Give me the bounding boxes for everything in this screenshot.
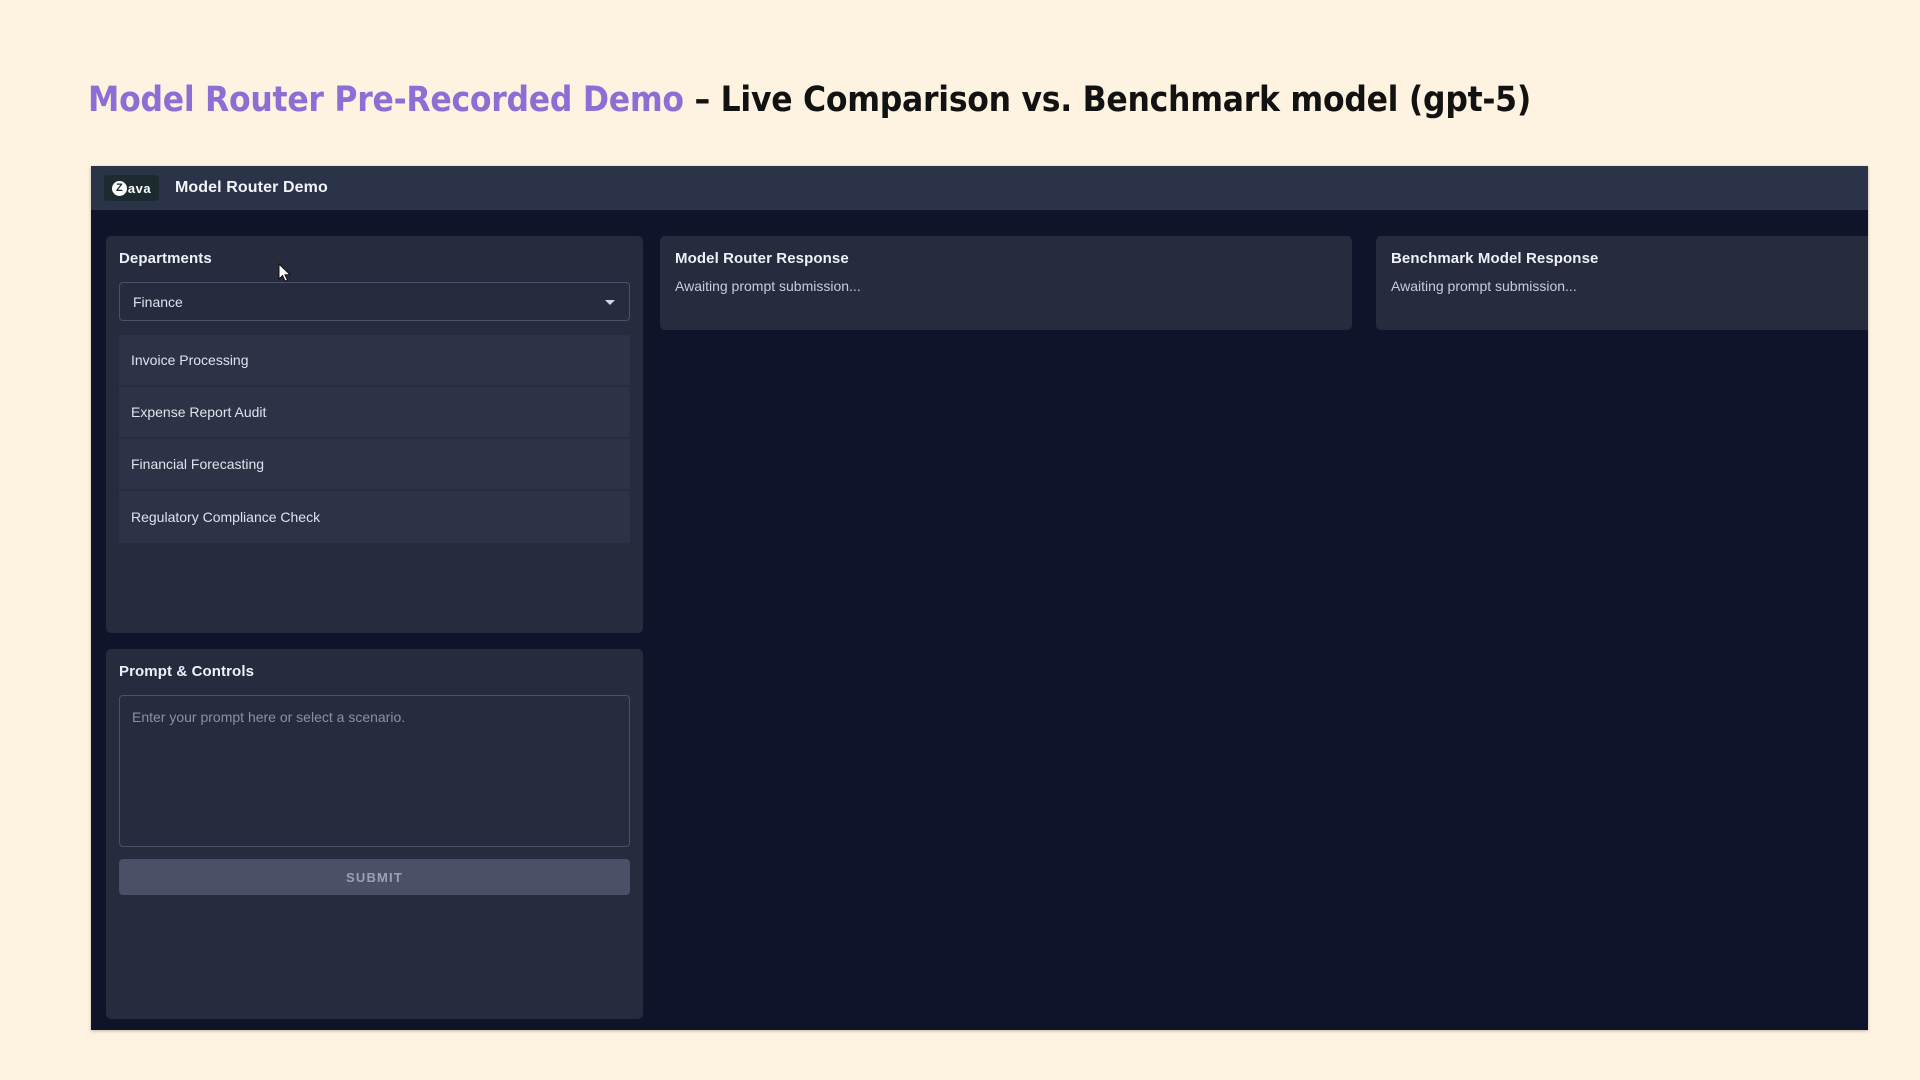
benchmark-model-response-heading: Benchmark Model Response [1391,250,1868,267]
app-title: Model Router Demo [175,179,328,197]
scenario-label: Expense Report Audit [131,404,266,420]
model-router-response-status: Awaiting prompt submission... [675,278,1337,294]
model-router-response-panel: Model Router Response Awaiting prompt su… [660,236,1352,330]
benchmark-model-response-panel: Benchmark Model Response Awaiting prompt… [1376,236,1868,330]
zava-logo-mark: Z ava [112,181,151,196]
prompt-heading: Prompt & Controls [119,663,630,680]
scenario-label: Regulatory Compliance Check [131,509,320,525]
list-item[interactable]: Invoice Processing [119,335,630,387]
scenario-list: Invoice Processing Expense Report Audit … [119,335,630,543]
department-select-value: Finance [133,294,183,310]
app-topbar: Z ava Model Router Demo [91,166,1868,210]
page-title-accent: Model Router Pre-Recorded Demo [88,80,684,120]
benchmark-model-response-status: Awaiting prompt submission... [1391,278,1868,294]
departments-panel: Departments Finance Invoice Processing E… [106,236,643,633]
submit-button[interactable]: SUBMIT [119,859,630,895]
list-item[interactable]: Financial Forecasting [119,439,630,491]
department-select[interactable]: Finance [119,282,630,321]
prompt-input[interactable]: Enter your prompt here or select a scena… [119,695,630,847]
scenario-label: Invoice Processing [131,352,249,368]
list-item[interactable]: Expense Report Audit [119,387,630,439]
departments-heading: Departments [119,250,630,267]
zava-logo[interactable]: Z ava [104,175,159,201]
app-window: Z ava Model Router Demo Departments Fina… [91,166,1868,1030]
prompt-controls-panel: Prompt & Controls Enter your prompt here… [106,649,643,1019]
page-root: Model Router Pre-Recorded Demo – Live Co… [0,0,1920,1080]
zava-circle-icon: Z [112,181,127,196]
list-item[interactable]: Regulatory Compliance Check [119,491,630,543]
scenario-label: Financial Forecasting [131,456,264,472]
chevron-down-icon [605,300,615,305]
page-title-rest: – Live Comparison vs. Benchmark model (g… [684,80,1531,120]
model-router-response-heading: Model Router Response [675,250,1337,267]
app-body: Departments Finance Invoice Processing E… [91,210,1868,1030]
page-title: Model Router Pre-Recorded Demo – Live Co… [88,78,1531,122]
zava-logo-text: ava [128,181,151,196]
